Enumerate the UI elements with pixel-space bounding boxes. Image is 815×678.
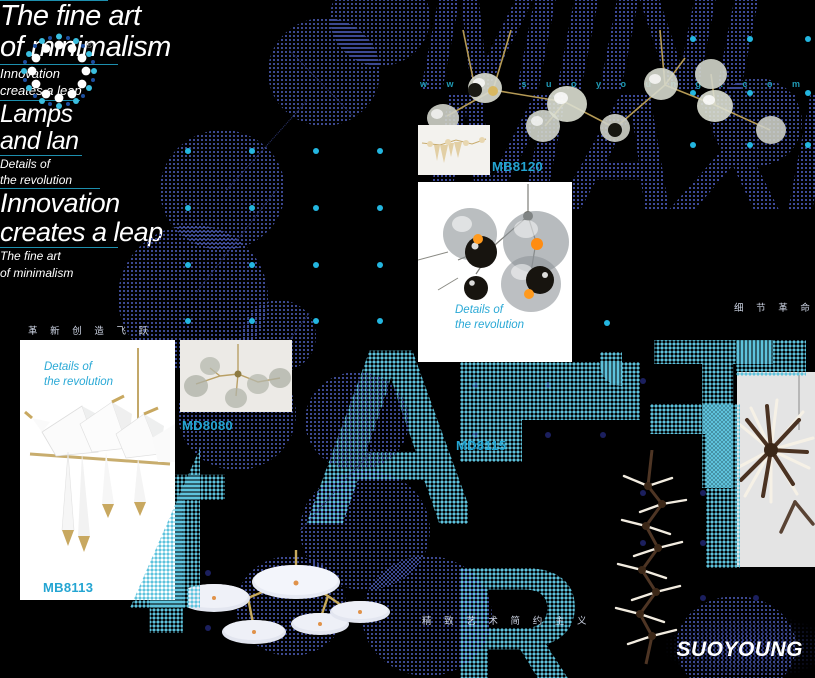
saucer-disc-chandelier-svg [188,550,398,665]
grid-dot [377,262,383,268]
right-headline-line2: and lan [0,128,160,155]
grid-dot [313,318,319,324]
halftone-blob [305,372,409,470]
left-headline-line1: The fine art [0,1,230,32]
product-card-md8080[interactable] [180,340,292,412]
branching-globe-chandelier-svg [180,340,292,412]
grid-dot [185,148,191,154]
grid-dot [249,148,255,154]
sputnik-starburst-lamp-svg [737,372,815,567]
grid-dot-navy [600,432,606,438]
product-card-mb8120[interactable] [418,125,490,175]
product-caption-md8115: Details of the revolution [455,303,524,333]
product-id-md8115: MD8115 [456,438,506,453]
product-caption-mb8113: Details of the revolution [44,360,113,390]
grid-dot [377,148,383,154]
globe-cluster-chandelier-svg [418,182,572,362]
grid-dot [313,262,319,268]
poster-canvas: MINI MAXI T A R T [0,0,815,678]
caption-line2: the revolution [44,375,113,390]
grid-dot [185,205,191,211]
grid-dot [249,318,255,324]
bottom-chinese-text: 精 致 艺 术 简 约 主 义 [422,613,591,627]
grid-dot [377,318,383,324]
left-chinese-text: 革 新 创 造 飞 跃 [28,323,153,337]
registered-mark: ® [86,40,93,50]
bottom-subhead-line1: The fine art [0,248,815,264]
gold-branch-lamp-thumb-svg [418,125,490,175]
grid-dot [313,148,319,154]
product-card-md8115[interactable]: Details of the revolution [418,182,572,362]
caption-line1: Details of [455,303,524,318]
grid-dot-navy [640,378,646,384]
grid-dot-navy [545,432,551,438]
grid-dot [185,318,191,324]
product-card-sputnik[interactable] [737,372,815,567]
product-id-mb8113: MB8113 [43,580,93,595]
grid-dot [249,205,255,211]
cyan-halftone-accent [736,340,806,376]
grid-dot [185,262,191,268]
grid-dot [604,320,610,326]
grid-dot [249,262,255,268]
grid-dot [313,205,319,211]
brand-wordmark: SUOYOUNG [676,638,803,662]
caption-line1: Details of [44,360,113,375]
grid-dot [377,205,383,211]
product-id-md8080: MD8080 [182,418,233,433]
caption-line2: the revolution [455,318,524,333]
product-id-mb8120: MB8120 [492,159,543,174]
cyan-halftone-accent [706,404,740,568]
grid-dot-navy [753,595,759,601]
right-chinese-text: 细 节 革 命 [734,300,815,314]
product-image-disc-lamp [188,550,398,665]
